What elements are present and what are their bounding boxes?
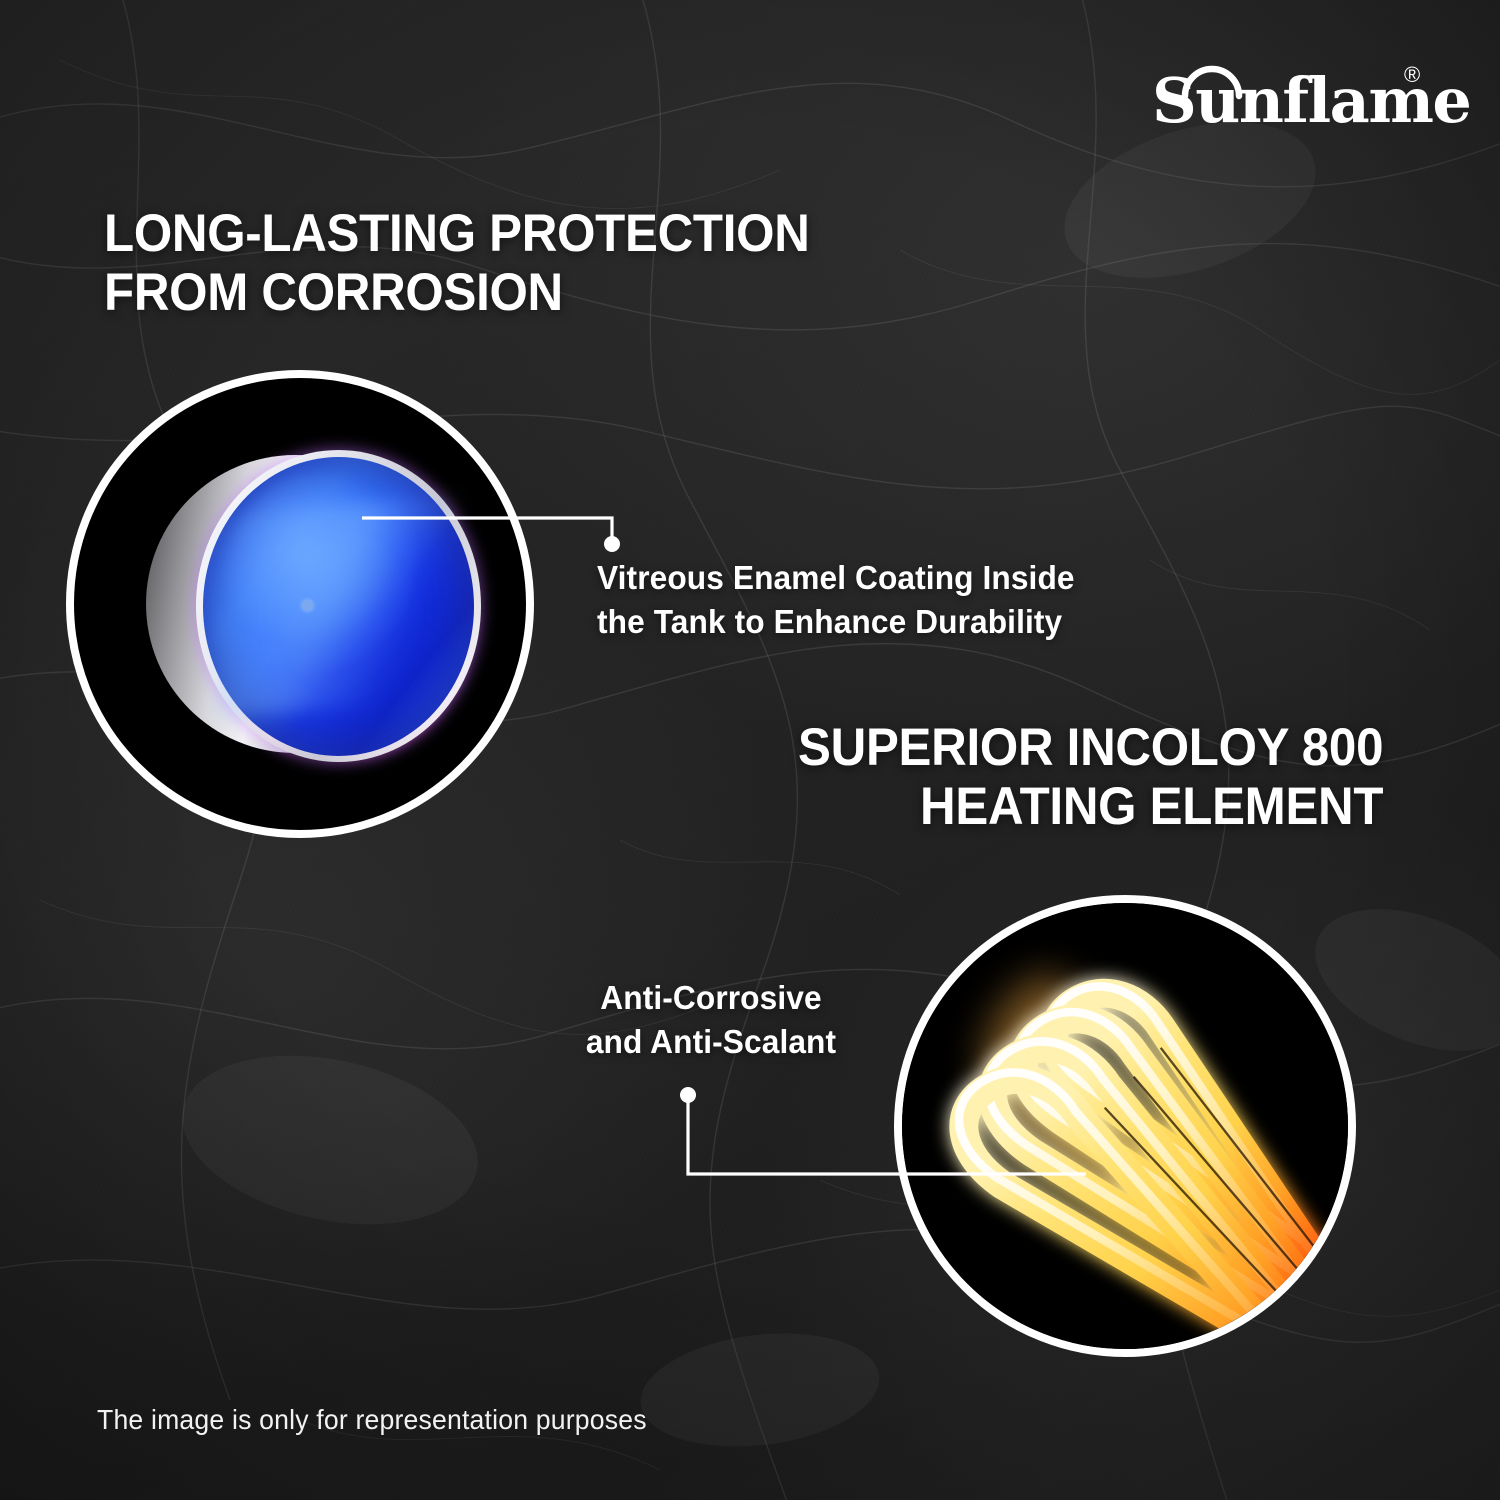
representation-disclaimer: The image is only for representation pur… <box>97 1404 647 1436</box>
blue-vitreous-enamel-tank-photo <box>74 378 526 830</box>
registered-mark: ® <box>1404 62 1420 87</box>
callout-anti-corrosive: Anti-Corrosive and Anti-Scalant <box>544 976 878 1064</box>
tank-photo-frame <box>66 370 534 838</box>
leader-line-anticorrosive <box>676 1082 1096 1192</box>
callout-vitreous-enamel: Vitreous Enamel Coating Inside the Tank … <box>597 556 1075 644</box>
leader-line-enamel <box>360 500 630 560</box>
headline-superior-incoloy: SUPERIOR INCOLOY 800 HEATING ELEMENT <box>798 718 1383 837</box>
headline-long-lasting-protection: LONG-LASTING PROTECTION FROM CORROSION <box>104 204 810 323</box>
infographic-canvas: Sunflame ® LONG-LASTING PROTECTION FROM … <box>0 0 1500 1500</box>
logo-wordmark: Sunflame <box>1152 64 1470 137</box>
sunflame-logo: Sunflame ® <box>1152 34 1452 134</box>
leader-dot-anticorrosive <box>680 1087 696 1103</box>
leader-dot-enamel <box>604 536 620 552</box>
